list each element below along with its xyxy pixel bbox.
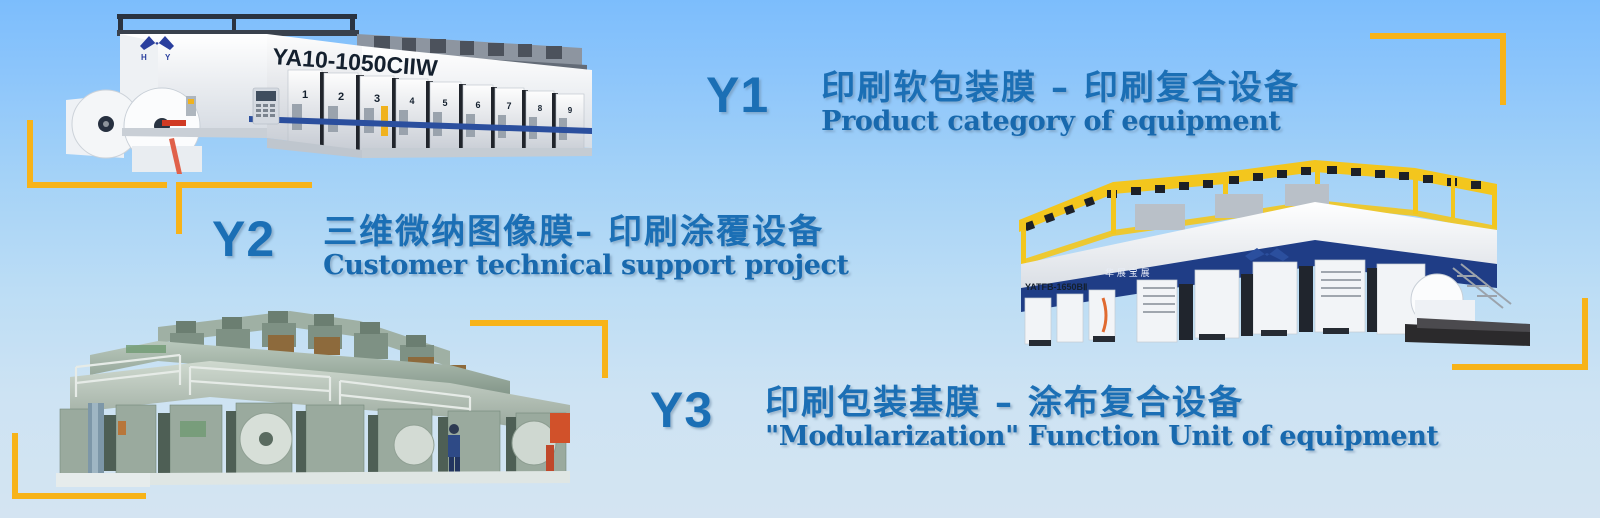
feature-title-cn-y2: 三维微纳图像膜– 印刷涂覆设备 xyxy=(323,213,848,251)
accent-bracket-y3-top-vertical xyxy=(602,320,608,378)
accent-bracket-y3-top-horizontal xyxy=(470,320,608,326)
feature-row-y1: Y1 印刷软包装膜 – 印刷复合设备 Product category of e… xyxy=(706,70,1300,136)
print-unit-number-5: 5 xyxy=(442,98,447,108)
print-unit-number-7: 7 xyxy=(506,101,511,111)
svg-text:H: H xyxy=(141,53,147,62)
operator-figure xyxy=(448,424,460,473)
machine-image-paper-coating-production-line xyxy=(30,305,575,490)
machine-image-coating-laminating-machine: 华 展 宝 展 YATFB-1650BⅡ xyxy=(985,148,1530,348)
print-unit-number-9: 9 xyxy=(568,106,573,115)
print-unit-number-6: 6 xyxy=(475,100,480,110)
print-unit-number-1: 1 xyxy=(302,89,308,101)
print-unit-number-4: 4 xyxy=(409,96,414,106)
accent-bracket-y2-horizontal xyxy=(176,182,312,188)
accent-bracket-bottom-vertical xyxy=(12,433,18,499)
print-unit-number-3: 3 xyxy=(374,93,380,105)
accent-bracket-left-top-horizontal xyxy=(27,182,167,188)
accent-bracket-left-top-vertical xyxy=(27,120,33,188)
feature-title-en-y3: "Modularization" Function Unit of equipm… xyxy=(765,422,1438,451)
accent-bracket-y1-vertical xyxy=(1500,33,1506,105)
feature-row-y2: Y2 三维微纳图像膜– 印刷涂覆设备 Customer technical su… xyxy=(212,214,849,280)
print-unit-number-8: 8 xyxy=(538,104,543,113)
print-unit-number-2: 2 xyxy=(338,91,344,103)
feature-title-cn-y3: 印刷包装基膜 – 涂布复合设备 xyxy=(765,384,1438,422)
feature-code-y3: Y3 xyxy=(650,385,713,435)
feature-code-y2: Y2 xyxy=(212,214,275,264)
accent-bracket-y2-vertical xyxy=(176,182,182,234)
feature-row-y3: Y3 印刷包装基膜 – 涂布复合设备 "Modularization" Func… xyxy=(650,385,1439,451)
machine-model-label-2: YATFB-1650BⅡ xyxy=(1025,282,1087,292)
accent-bracket-bottom-horizontal xyxy=(12,493,146,499)
feature-title-en-y1: Product category of equipment xyxy=(821,107,1300,136)
accent-bracket-y1-horizontal xyxy=(1370,33,1506,39)
feature-title-en-y2: Customer technical support project xyxy=(323,251,848,280)
accent-bracket-right-vertical xyxy=(1582,298,1588,370)
accent-bracket-right-horizontal xyxy=(1452,364,1588,370)
feature-title-cn-y1: 印刷软包装膜 – 印刷复合设备 xyxy=(821,69,1300,107)
promotional-banner: H Y YA10-1050CIIW xyxy=(0,0,1600,518)
svg-text:华 展 宝 展: 华 展 宝 展 xyxy=(1105,267,1150,279)
svg-text:Y: Y xyxy=(165,53,171,62)
machine-image-gravure-printing-press: H Y YA10-1050CIIW xyxy=(62,8,602,178)
feature-code-y1: Y1 xyxy=(706,70,769,120)
